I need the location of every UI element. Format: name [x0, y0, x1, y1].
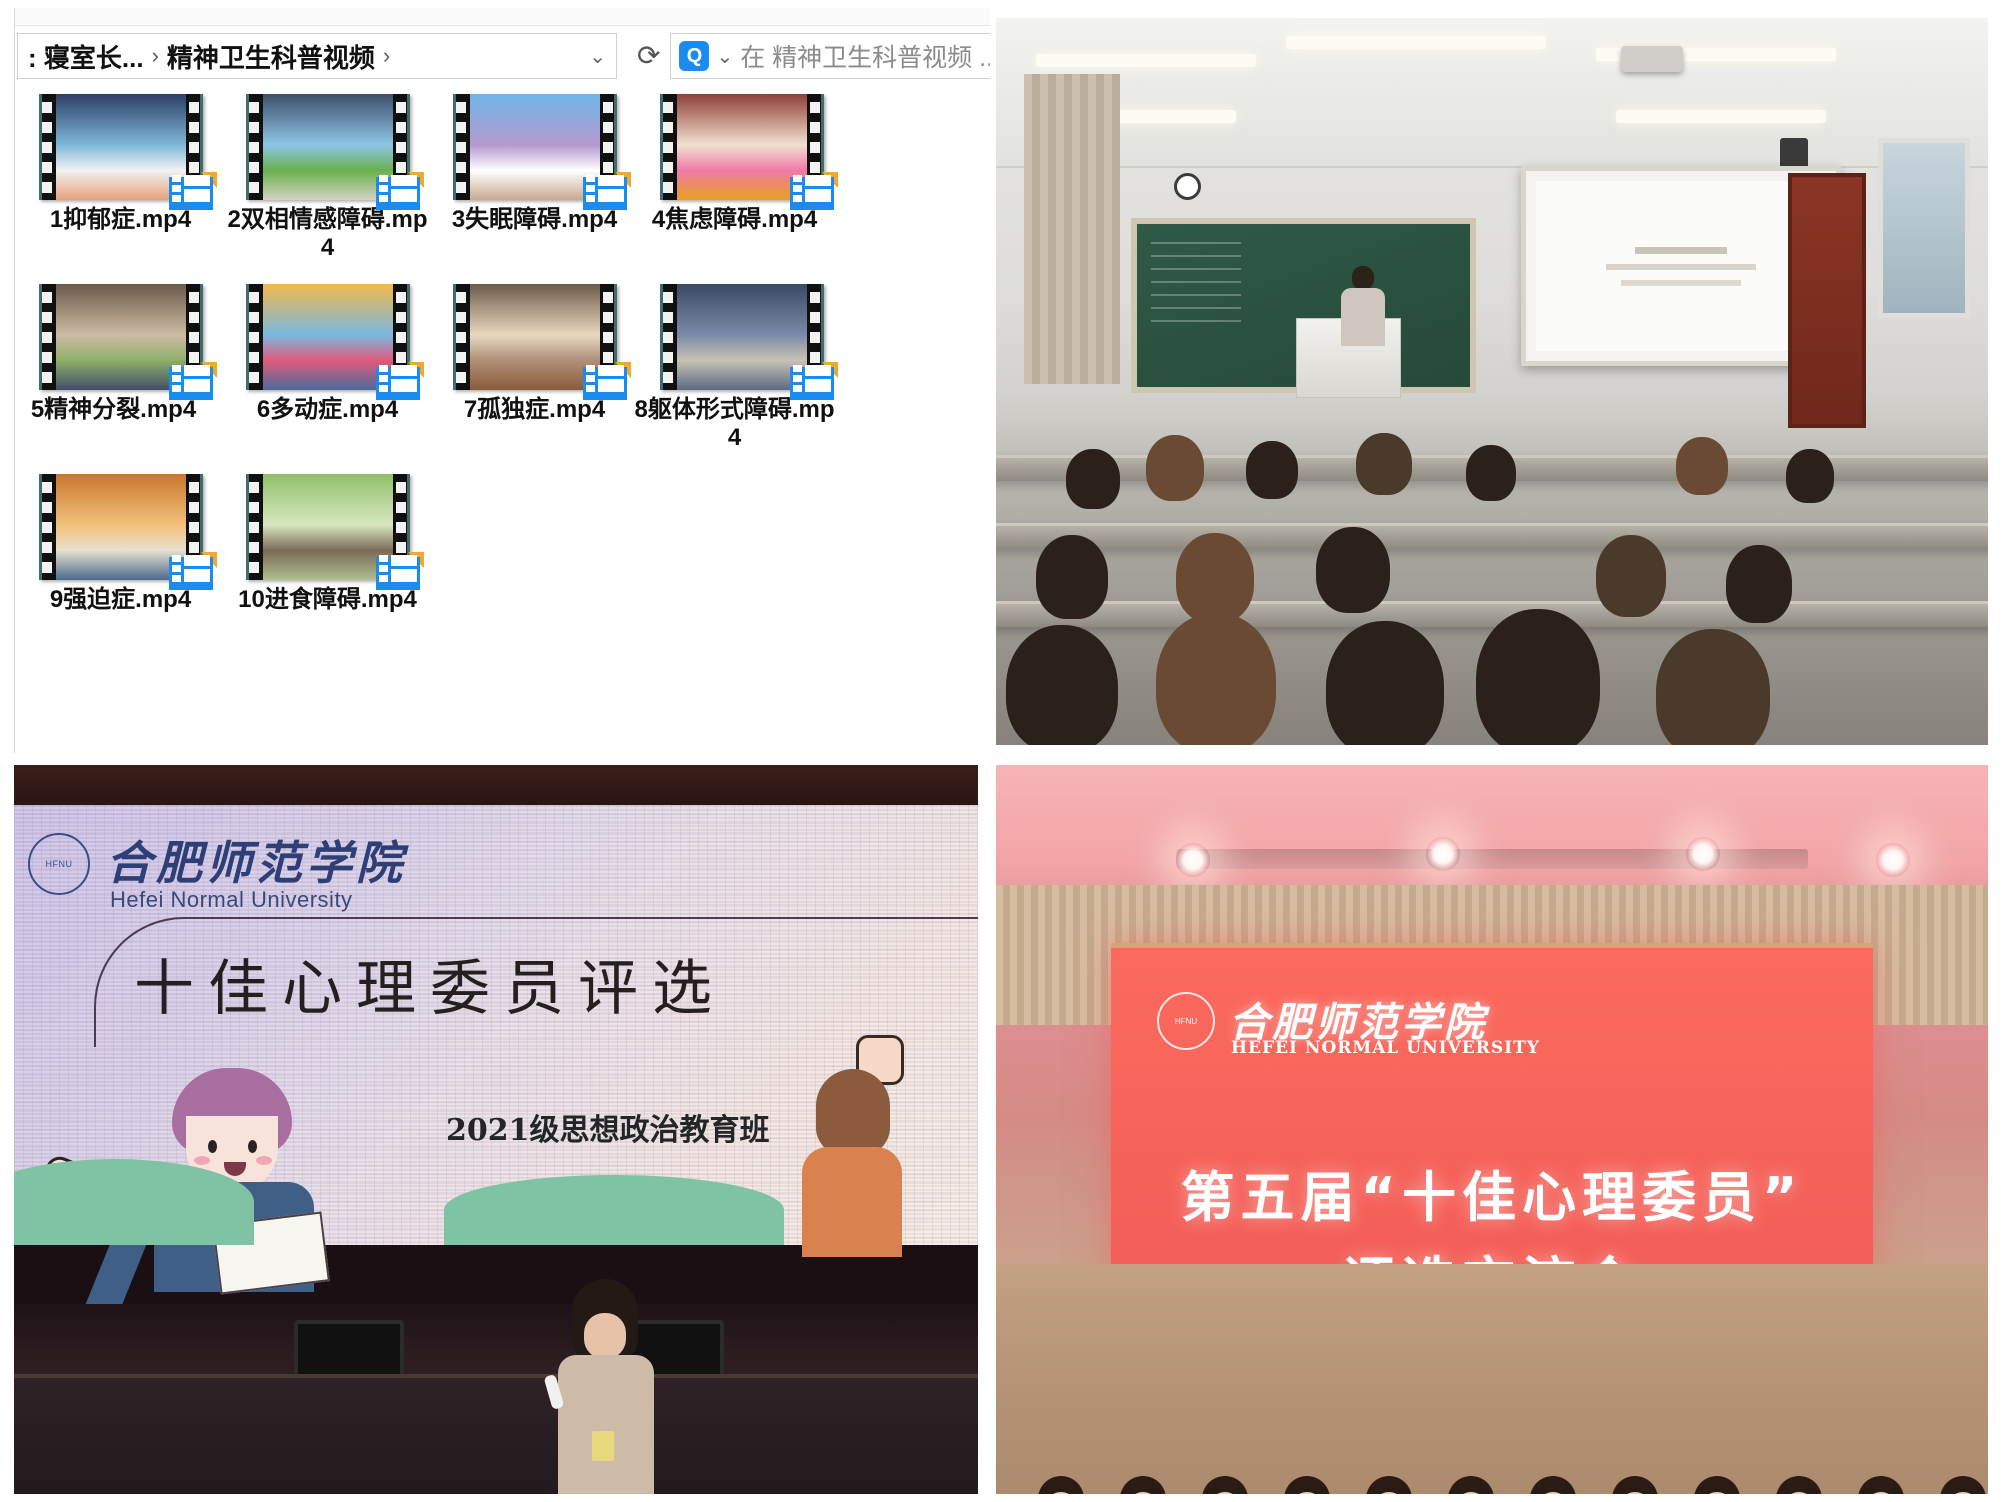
hill-shape — [14, 1159, 254, 1245]
ceiling-light-icon — [1036, 54, 1256, 67]
ceiling — [996, 765, 1988, 900]
file-thumbnail[interactable] — [39, 474, 203, 580]
audience-seating — [996, 415, 1988, 745]
led-projection-screen: HFNU 合肥师范学院 Hefei Normal University — [14, 805, 978, 1245]
ceiling-spotlight-icon — [1176, 843, 1210, 877]
projector-icon — [1621, 46, 1683, 72]
presenter-figure — [1341, 266, 1385, 344]
university-seal-icon: HFNU — [28, 833, 90, 895]
ceiling-spotlight-icon — [1876, 843, 1910, 877]
search-icon[interactable]: Q — [679, 41, 709, 71]
stage-monitor-icon — [294, 1320, 404, 1378]
search-input[interactable]: 在 精神卫生科普视频 ... — [740, 38, 990, 74]
file-item[interactable]: 1抑郁症.mp4 — [17, 94, 224, 284]
presenter-body — [1341, 288, 1385, 346]
file-thumbnail[interactable] — [660, 284, 824, 390]
film-edge — [660, 284, 663, 390]
toolbar-strip — [15, 8, 990, 26]
stage-table-front — [14, 1374, 978, 1494]
thumbnail-artwork — [677, 284, 807, 390]
file-label: 8躯体形式障碍.mp4 — [635, 396, 835, 453]
audience-head — [1476, 609, 1600, 745]
stage-header-band — [14, 765, 978, 809]
file-thumbnail[interactable] — [39, 284, 203, 390]
film-edge — [453, 94, 456, 200]
ceiling-spotlight-icon — [1426, 837, 1460, 871]
stage-floor — [996, 1264, 1988, 1494]
file-thumbnail[interactable] — [246, 474, 410, 580]
film-edge — [39, 284, 42, 390]
audience-head — [1246, 441, 1298, 499]
file-explorer-screenshot: : 寝室长... › 精神卫生科普视频 › ⌄ ⟳ Q ⌄ 在 精神卫生科普视频… — [0, 0, 990, 755]
audience-head — [1066, 449, 1120, 509]
mp4-file-icon — [169, 172, 217, 212]
file-thumbnail[interactable] — [246, 94, 410, 200]
breadcrumb-separator-icon: › — [150, 43, 161, 69]
explorer-window: : 寝室长... › 精神卫生科普视频 › ⌄ ⟳ Q ⌄ 在 精神卫生科普视频… — [14, 8, 990, 753]
slide-main-heading: 十佳心理委员评选 — [134, 940, 726, 1027]
file-item[interactable]: 2双相情感障碍.mp4 — [224, 94, 431, 284]
photo-collage: : 寝室长... › 精神卫生科普视频 › ⌄ ⟳ Q ⌄ 在 精神卫生科普视频… — [0, 0, 2002, 1502]
university-seal-icon: HFNU — [1157, 992, 1215, 1050]
projected-slide — [1536, 181, 1826, 351]
slide-photo-panel: HFNU 合肥师范学院 Hefei Normal University — [0, 755, 990, 1502]
file-thumbnail[interactable] — [660, 94, 824, 200]
breadcrumb-separator-end-icon: › — [381, 43, 392, 69]
slide-body-placeholder-2 — [1621, 280, 1741, 286]
classroom-door — [1788, 173, 1866, 428]
classroom-window — [1878, 138, 1970, 318]
mp4-file-icon — [583, 172, 631, 212]
search-bar[interactable]: Q ⌄ 在 精神卫生科普视频 ... — [670, 33, 990, 79]
thumbnail-artwork — [56, 474, 186, 580]
file-item[interactable]: 9强迫症.mp4 — [17, 474, 224, 664]
thumbnail-artwork — [56, 94, 186, 200]
breadcrumb-current[interactable]: 精神卫生科普视频 — [167, 38, 375, 75]
seal-inner-text: HFNU — [1175, 1017, 1197, 1026]
audience-head — [1656, 629, 1770, 745]
film-edge — [453, 284, 456, 390]
mp4-file-icon — [583, 362, 631, 402]
chevron-down-icon[interactable]: ⌄ — [589, 44, 606, 69]
university-name-en: Hefei Normal University — [110, 887, 353, 913]
thumbnail-artwork — [677, 94, 807, 200]
film-edge — [246, 474, 249, 580]
banner-title-line-1: 第五届“十佳心理委员” — [1111, 1153, 1873, 1232]
film-edge — [39, 94, 42, 200]
hill-shape — [444, 1175, 784, 1245]
address-bar[interactable]: : 寝室长... › 精神卫生科普视频 › ⌄ — [17, 33, 617, 79]
audience-head — [1036, 535, 1108, 619]
audience-head — [1726, 545, 1792, 623]
award-photo-panel: HFNU 合肥师范学院 HEFEI NORMAL UNIVERSITY 第五届“… — [990, 755, 2002, 1502]
thumbnail-artwork — [263, 474, 393, 580]
file-item[interactable]: 3失眠障碍.mp4 — [431, 94, 638, 284]
file-item[interactable]: 10进食障碍.mp4 — [224, 474, 431, 664]
speaker-face — [584, 1313, 626, 1359]
banner-university-name-en: HEFEI NORMAL UNIVERSITY — [1231, 1038, 1540, 1058]
search-chevron-down-icon[interactable]: ⌄ — [716, 44, 733, 69]
award-ceremony-photo: HFNU 合肥师范学院 HEFEI NORMAL UNIVERSITY 第五届“… — [996, 765, 1988, 1494]
audience-head — [1176, 533, 1254, 623]
thumbnail-artwork — [470, 94, 600, 200]
speaker-badge — [592, 1431, 614, 1461]
audience-head — [1006, 625, 1118, 745]
film-edge — [246, 284, 249, 390]
slide-body-placeholder — [1606, 264, 1756, 270]
speaker-figure — [544, 1279, 664, 1494]
file-item[interactable]: 5精神分裂.mp4 — [17, 284, 224, 474]
file-label: 2双相情感障碍.mp4 — [228, 206, 428, 263]
address-bar-row: : 寝室长... › 精神卫生科普视频 › ⌄ ⟳ Q ⌄ 在 精神卫生科普视频… — [15, 26, 990, 88]
audience-head — [1146, 435, 1204, 501]
thumbnail-artwork — [470, 284, 600, 390]
file-item[interactable]: 7孤独症.mp4 — [431, 284, 638, 474]
breadcrumb-parent[interactable]: : 寝室长... — [28, 38, 144, 75]
mp4-file-icon — [376, 172, 424, 212]
presentation-slide-photo: HFNU 合肥师范学院 Hefei Normal University — [14, 765, 978, 1494]
thumbnail-artwork — [263, 284, 393, 390]
film-edge — [246, 94, 249, 200]
file-item[interactable]: 6多动症.mp4 — [224, 284, 431, 474]
file-item[interactable]: 8躯体形式障碍.mp4 — [638, 284, 845, 474]
desk-row — [996, 523, 1988, 549]
classroom-photo-panel — [990, 0, 2002, 755]
file-thumbnail[interactable] — [246, 284, 410, 390]
refresh-icon[interactable]: ⟳ — [637, 42, 660, 70]
audience-head — [1356, 433, 1412, 495]
ceiling-light-icon — [1616, 110, 1826, 123]
film-edge — [39, 474, 42, 580]
file-thumbnail[interactable] — [453, 284, 617, 390]
seal-inner-text: HFNU — [46, 859, 73, 869]
file-thumbnail[interactable] — [453, 94, 617, 200]
file-item[interactable]: 4焦虑障碍.mp4 — [638, 94, 845, 284]
ceiling-light-icon — [1286, 36, 1546, 49]
speaker-coat — [558, 1355, 654, 1494]
thumbnail-artwork — [56, 284, 186, 390]
stage-table — [14, 1304, 978, 1494]
audience-head — [1466, 445, 1516, 501]
slide-title-placeholder — [1635, 247, 1727, 254]
lecture-hall-photo — [996, 18, 1988, 745]
audience-head — [1676, 437, 1728, 495]
ceiling-spotlight-icon — [1686, 837, 1720, 871]
mp4-file-icon — [376, 362, 424, 402]
audience-head — [1156, 613, 1276, 745]
audience-head — [1316, 527, 1390, 613]
file-thumbnail[interactable] — [39, 94, 203, 200]
thumbnail-artwork — [263, 94, 393, 200]
university-name-cn: 合肥师范学院 — [106, 827, 406, 893]
wall-clock-icon — [1174, 173, 1201, 200]
mp4-file-icon — [376, 552, 424, 592]
desk-row — [996, 601, 1988, 627]
mp4-file-icon — [169, 552, 217, 592]
film-edge — [660, 94, 663, 200]
audience-head — [1596, 535, 1666, 617]
slide-hill-decoration — [14, 1115, 978, 1245]
window-curtain — [1024, 74, 1120, 384]
mp4-file-icon — [790, 172, 838, 212]
mp4-file-icon — [790, 362, 838, 402]
mp4-file-icon — [169, 362, 217, 402]
audience-head — [1326, 621, 1444, 745]
file-grid: 1抑郁症.mp42双相情感障碍.mp43失眠障碍.mp44焦虑障碍.mp45精神… — [15, 88, 990, 664]
audience-head — [1786, 449, 1834, 503]
presenter-head — [1352, 266, 1374, 290]
